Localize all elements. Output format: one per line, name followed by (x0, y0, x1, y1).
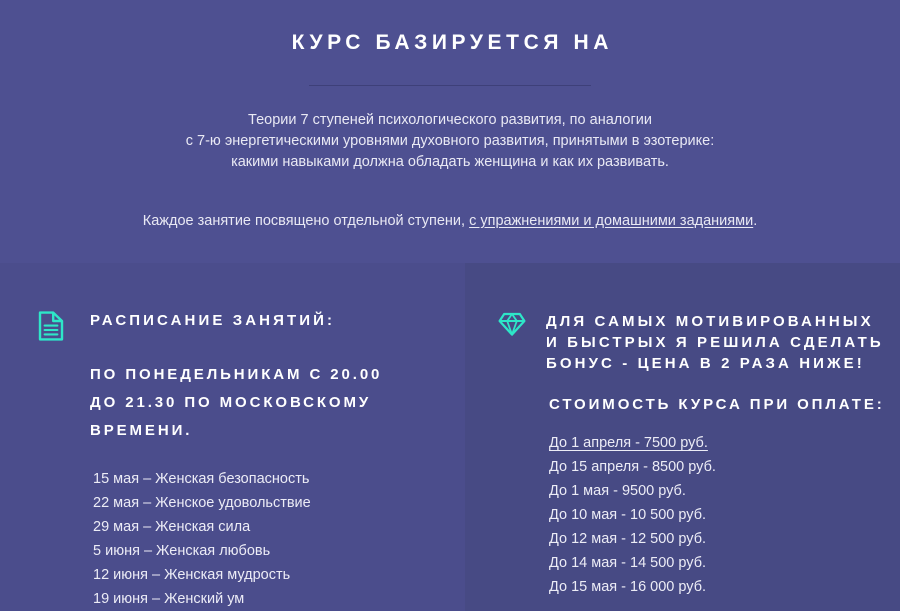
pricing-subheading: СТОИМОСТЬ КУРСА ПРИ ОПЛАТЕ: (465, 374, 900, 415)
lesson-note-paragraph: Каждое занятие посвящено отдельной ступе… (0, 211, 900, 232)
intro-line-2: с 7-ю энергетическими уровнями духовного… (186, 133, 715, 149)
pricing-panel: ДЛЯ САМЫХ МОТИВИРОВАННЫХ И БЫСТРЫХ Я РЕШ… (465, 263, 900, 611)
page-title: КУРС БАЗИРУЕТСЯ НА (0, 30, 900, 55)
schedule-time-line-2: ДО 21.30 ПО МОСКОВСКОМУ (90, 394, 371, 411)
panels-section: РАСПИСАНИЕ ЗАНЯТИЙ: ПО ПОНЕДЕЛЬНИКАМ С 2… (0, 263, 900, 611)
diamond-icon (498, 310, 528, 337)
schedule-time-line-1: ПО ПОНЕДЕЛЬНИКАМ С 20.00 (90, 366, 382, 383)
list-item: 19 июня – Женский ум (93, 587, 465, 611)
list-item: До 15 апреля - 8500 руб. (549, 455, 900, 479)
list-item: 22 мая – Женское удовольствие (93, 491, 465, 515)
list-item: 15 мая – Женская безопасность (93, 467, 465, 491)
list-item: До 15 мая - 16 000 руб. (549, 575, 900, 599)
intro-paragraph: Теории 7 ступеней психологического разви… (0, 110, 900, 173)
pricing-list: До 1 апреля - 7500 руб. До 15 апреля - 8… (465, 415, 900, 599)
pricing-heading-line-2: И БЫСТРЫХ Я РЕШИЛА СДЕЛАТЬ (546, 334, 884, 351)
schedule-panel: РАСПИСАНИЕ ЗАНЯТИЙ: ПО ПОНЕДЕЛЬНИКАМ С 2… (0, 263, 465, 611)
document-icon (38, 310, 68, 341)
intro-line-3: какими навыками должна обладать женщина … (231, 154, 669, 170)
hero-section: КУРС БАЗИРУЕТСЯ НА Теории 7 ступеней пси… (0, 0, 900, 263)
schedule-panel-header: РАСПИСАНИЕ ЗАНЯТИЙ: (8, 263, 465, 341)
schedule-list: 15 мая – Женская безопасность 22 мая – Ж… (8, 445, 465, 611)
list-item: До 10 мая - 10 500 руб. (549, 503, 900, 527)
list-item: 29 мая – Женская сила (93, 515, 465, 539)
lesson-note-prefix: Каждое занятие посвящено отдельной ступе… (143, 213, 469, 229)
pricing-heading-line-3: БОНУС - ЦЕНА В 2 РАЗА НИЖЕ! (546, 355, 865, 372)
slide-root: КУРС БАЗИРУЕТСЯ НА Теории 7 ступеней пси… (0, 0, 900, 611)
list-item: До 12 мая - 12 500 руб. (549, 527, 900, 551)
list-item: 12 июня – Женская мудрость (93, 563, 465, 587)
list-item: До 1 мая - 9500 руб. (549, 479, 900, 503)
schedule-time-line-3: ВРЕМЕНИ. (90, 422, 192, 439)
list-item: До 1 апреля - 7500 руб. (549, 431, 900, 455)
schedule-time-subheading: ПО ПОНЕДЕЛЬНИКАМ С 20.00 ДО 21.30 ПО МОС… (8, 341, 465, 445)
pricing-heading-line-1: ДЛЯ САМЫХ МОТИВИРОВАННЫХ (546, 313, 874, 330)
schedule-panel-heading: РАСПИСАНИЕ ЗАНЯТИЙ: (90, 310, 335, 331)
intro-line-1: Теории 7 ступеней психологического разви… (248, 112, 652, 128)
pricing-panel-header: ДЛЯ САМЫХ МОТИВИРОВАННЫХ И БЫСТРЫХ Я РЕШ… (465, 263, 900, 374)
list-item: До 14 мая - 14 500 руб. (549, 551, 900, 575)
exercises-link[interactable]: с упражнениями и домашними заданиями (469, 213, 753, 229)
pricing-panel-heading: ДЛЯ САМЫХ МОТИВИРОВАННЫХ И БЫСТРЫХ Я РЕШ… (546, 310, 884, 374)
lesson-note-suffix: . (753, 213, 757, 229)
title-divider (309, 85, 591, 86)
list-item: 5 июня – Женская любовь (93, 539, 465, 563)
